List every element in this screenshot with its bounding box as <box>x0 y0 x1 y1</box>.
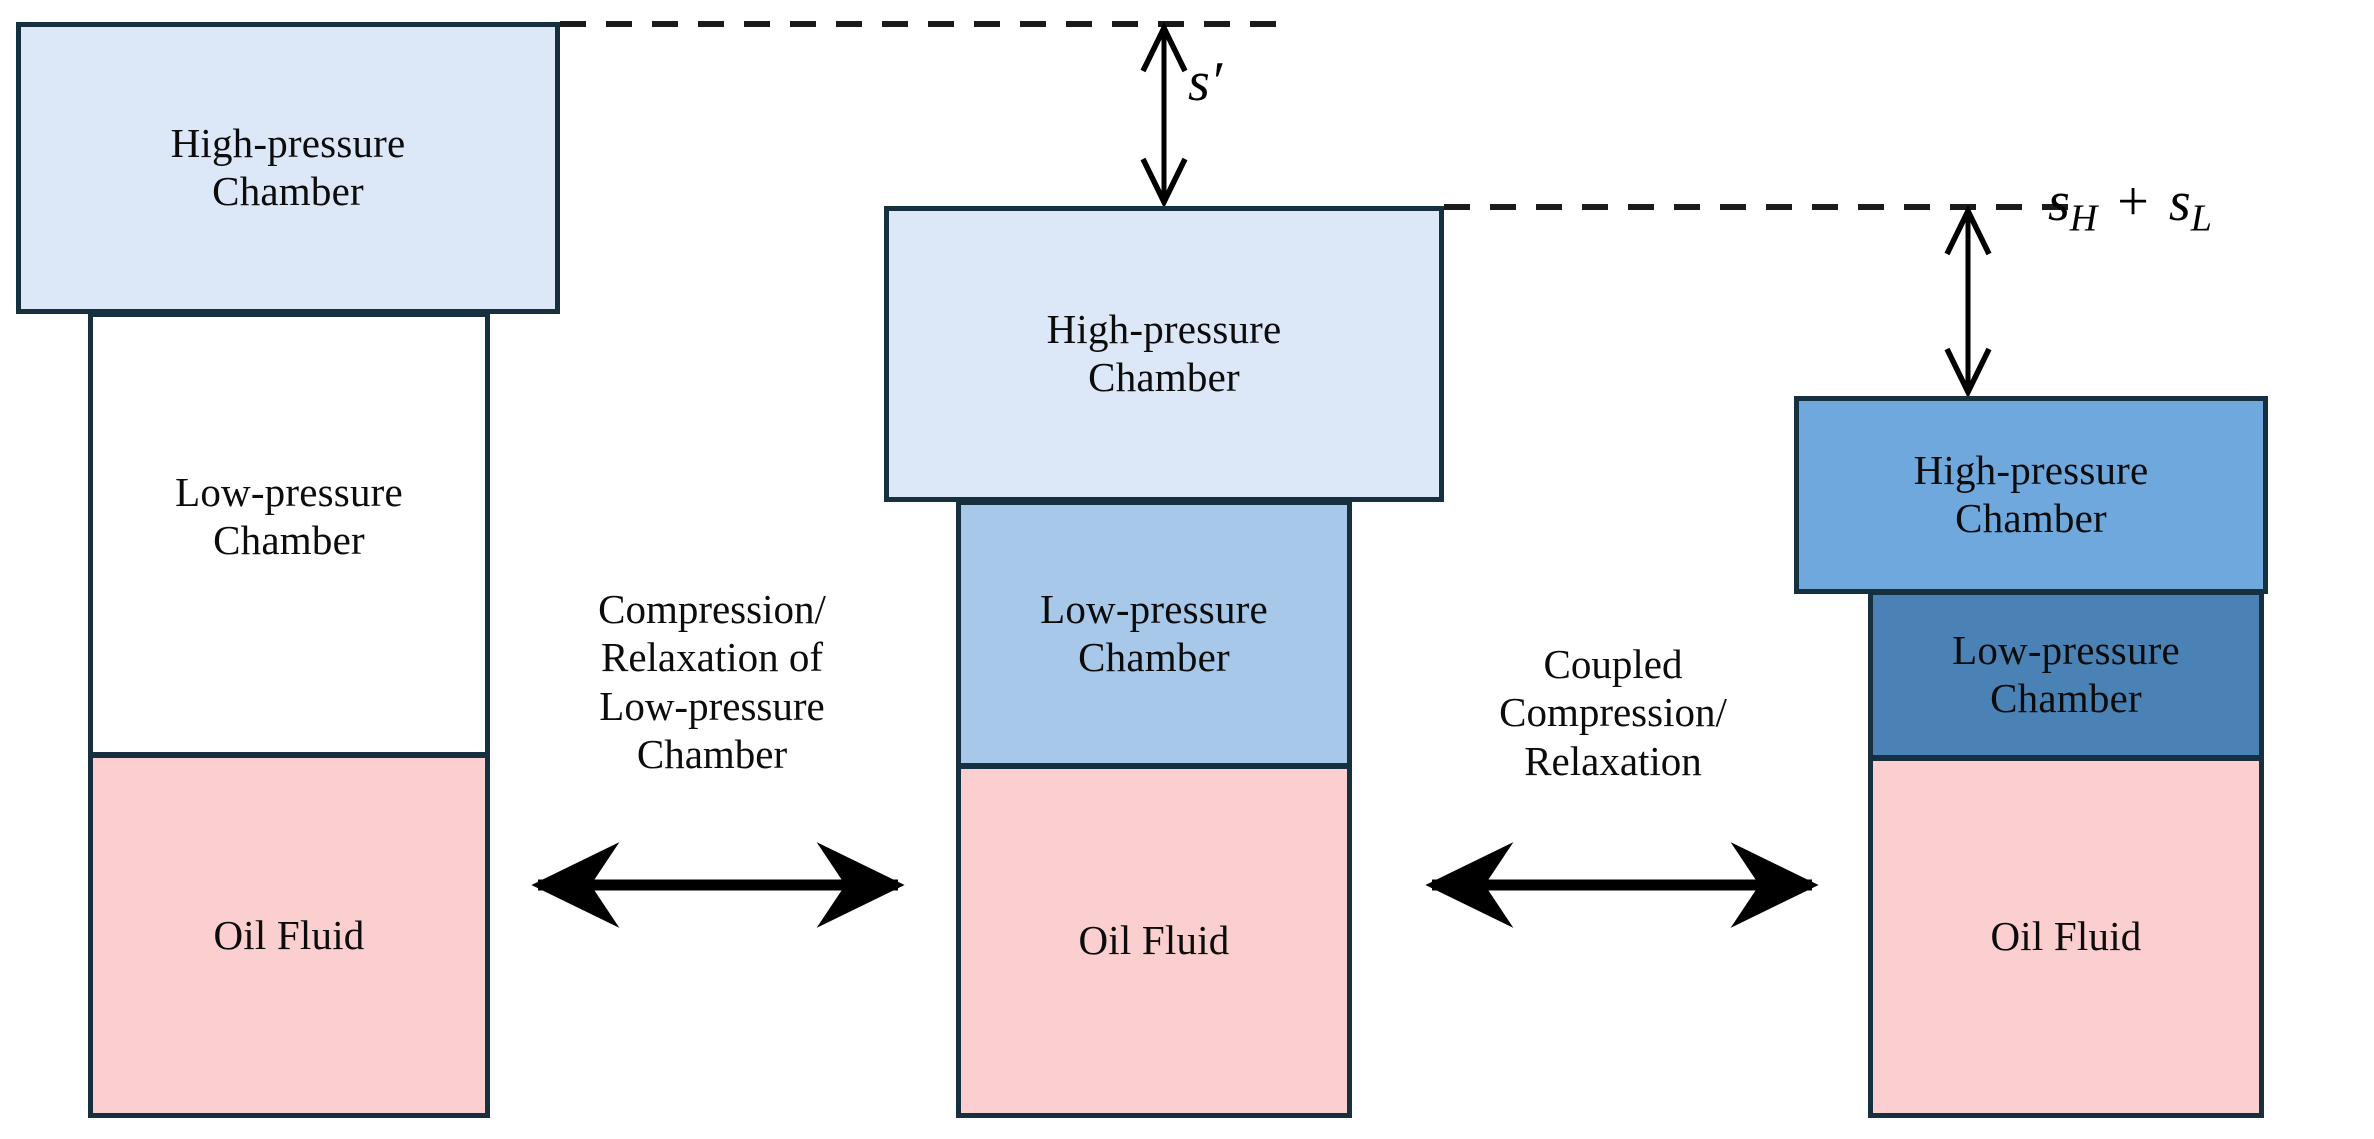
stage-right-high-pressure-chamber: High-pressure Chamber <box>1794 396 2268 594</box>
stage-left-low-pressure-chamber: Low-pressure Chamber <box>88 312 490 757</box>
s-l-symbol: sL <box>2169 171 2212 233</box>
stage-right-oil-fluid: Oil Fluid <box>1868 756 2264 1118</box>
stage-left-high-pressure-label: High-pressure Chamber <box>171 120 406 215</box>
figure-canvas: Low-pressure Chamber Oil Fluid High-pres… <box>0 0 2374 1139</box>
stage-middle-oil-label: Oil Fluid <box>1078 917 1229 965</box>
stage-middle-low-pressure-chamber: Low-pressure Chamber <box>956 500 1352 768</box>
dimension-s-prime-label: s′ <box>1188 50 1222 114</box>
stage-left-oil-label: Oil Fluid <box>213 912 364 960</box>
transition-1-label: Compression/ Relaxation of Low-pressure … <box>552 585 872 779</box>
stage-middle-high-pressure-chamber: High-pressure Chamber <box>884 206 1444 502</box>
stage-left-oil-fluid: Oil Fluid <box>88 753 490 1118</box>
stage-right-low-pressure-label: Low-pressure Chamber <box>1952 627 2180 722</box>
transition-2-label: Coupled Compression/ Relaxation <box>1448 640 1778 785</box>
plus-operator: + <box>2111 171 2155 233</box>
stage-right-high-pressure-label: High-pressure Chamber <box>1914 447 2149 542</box>
stage-right-oil-label: Oil Fluid <box>1990 913 2141 961</box>
stage-left-low-pressure-label: Low-pressure Chamber <box>175 469 403 564</box>
stage-middle-oil-fluid: Oil Fluid <box>956 764 1352 1118</box>
stage-left-high-pressure-chamber: High-pressure Chamber <box>16 22 560 314</box>
stage-middle-high-pressure-label: High-pressure Chamber <box>1047 306 1282 401</box>
dimension-sh-plus-sl-label: sH + sL <box>2048 170 2212 241</box>
s-prime-symbol: s′ <box>1188 51 1222 113</box>
s-h-symbol: sH <box>2048 171 2097 233</box>
stage-middle-low-pressure-label: Low-pressure Chamber <box>1040 586 1268 681</box>
stage-right-low-pressure-chamber: Low-pressure Chamber <box>1868 590 2264 760</box>
